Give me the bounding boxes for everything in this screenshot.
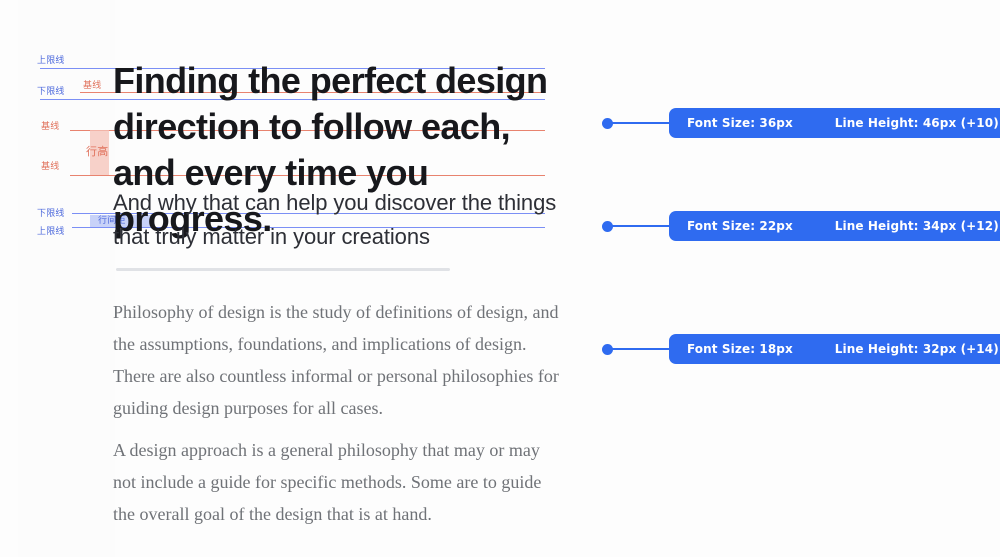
typography-spec-canvas: 上限线 基线 下限线 基线 行高 基线 下限线 行间距 上限线 Finding … (0, 0, 1000, 557)
badge-font-size-label: Font Size: 36px (687, 116, 793, 130)
badge-line-height-label: Line Height: 34px (+12) (835, 219, 999, 233)
guide-label-line-height: 行高 (86, 146, 108, 157)
page-subheading: And why that can help you discover the t… (113, 186, 573, 254)
guide-label-descender-top: 下限线 (37, 88, 65, 97)
body-paragraph-1: Philosophy of design is the study of def… (113, 296, 563, 424)
section-divider (116, 268, 450, 271)
badge-font-size-label: Font Size: 18px (687, 342, 793, 356)
badge-line-height-label: Line Height: 46px (+10) (835, 116, 999, 130)
guide-label-ascender-bottom: 上限线 (37, 228, 65, 237)
callout-leader-line (612, 348, 671, 350)
guide-label-baseline-1: 基线 (83, 82, 101, 91)
badge-font-size-label: Font Size: 22px (687, 219, 793, 233)
guide-label-baseline-3: 基线 (41, 163, 59, 172)
callout-leader-line (612, 122, 671, 124)
spec-badge-heading[interactable]: Font Size: 36px Line Height: 46px (+10) (669, 108, 1000, 138)
body-paragraph-2: A design approach is a general philosoph… (113, 434, 563, 530)
guide-label-descender-bottom: 下限线 (37, 210, 65, 219)
spec-badge-subheading[interactable]: Font Size: 22px Line Height: 34px (+12) (669, 211, 1000, 241)
callout-leader-line (612, 225, 671, 227)
badge-line-height-label: Line Height: 32px (+14) (835, 342, 999, 356)
guide-label-baseline-2: 基线 (41, 123, 59, 132)
callout-body[interactable]: Font Size: 18px Line Height: 32px (+14) (602, 334, 1000, 364)
spec-badge-body[interactable]: Font Size: 18px Line Height: 32px (+14) (669, 334, 1000, 364)
guide-label-ascender-top: 上限线 (37, 57, 65, 66)
callout-subheading[interactable]: Font Size: 22px Line Height: 34px (+12) (602, 211, 1000, 241)
callout-heading[interactable]: Font Size: 36px Line Height: 46px (+10) (602, 108, 1000, 138)
